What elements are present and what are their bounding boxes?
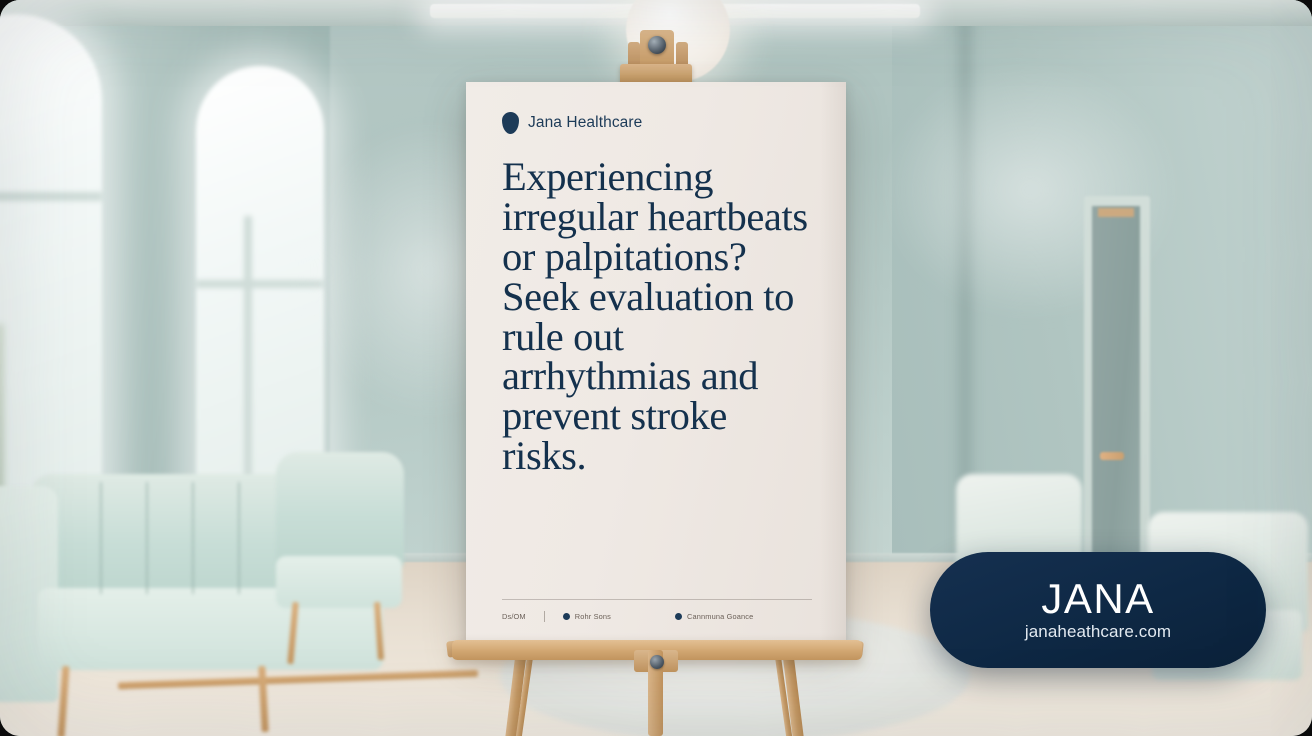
location-pin-icon (502, 112, 519, 134)
jana-badge[interactable]: JANA janaheathcare.com (930, 552, 1266, 668)
badge-url: janaheathcare.com (1025, 622, 1171, 642)
footer-item-2-label: Rohr Sons (575, 612, 611, 621)
arched-window-left (0, 14, 102, 514)
poster-brand: Jana Healthcare (502, 112, 816, 134)
window-mullion-horizontal (0, 192, 102, 201)
poster-headline: Experiencing irregular heartbeats or pal… (502, 157, 816, 599)
poster: Jana Healthcare Experiencing irregular h… (466, 82, 846, 644)
clip-screw-icon (648, 36, 666, 54)
footer-item-3: Cannmuna Goance (675, 612, 753, 621)
footer-item-3-label: Cannmuna Goance (687, 612, 753, 621)
door-top-trim (1098, 208, 1134, 217)
footer-item-2: Rohr Sons (563, 612, 611, 621)
door-handle[interactable] (1100, 452, 1124, 460)
dot-icon (563, 613, 570, 620)
dot-icon (675, 613, 682, 620)
badge-title: JANA (1041, 578, 1154, 620)
poster-footer: Ds/OM Rohr Sons Cannmuna Goance (502, 599, 812, 622)
footer-separator (544, 611, 545, 622)
easel-knob-icon (650, 655, 664, 669)
footer-item-1: Ds/OM (502, 612, 526, 621)
brand-name: Jana Healthcare (528, 114, 642, 132)
clinic-waiting-room-scene: Jana Healthcare Experiencing irregular h… (0, 0, 1312, 736)
